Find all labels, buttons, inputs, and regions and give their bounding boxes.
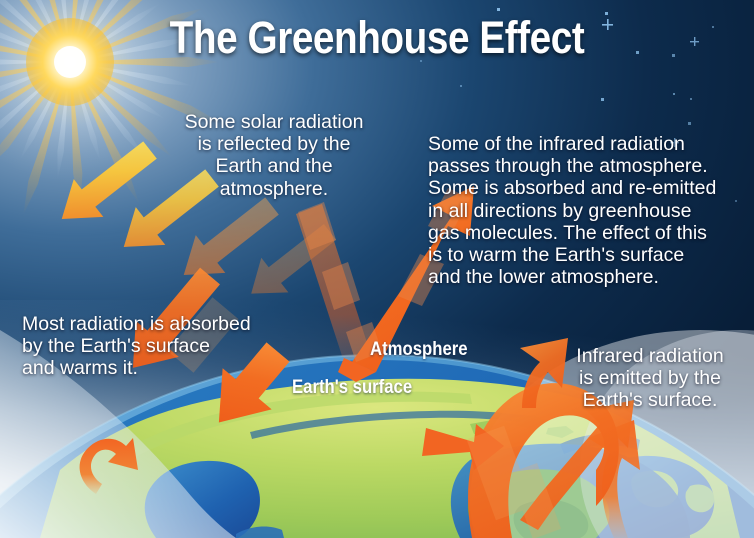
greenhouse-effect-infographic: The Greenhouse Effect Some solar radiati…: [0, 0, 754, 538]
arrows-layer: [0, 0, 754, 538]
infrared-emitted-arrow-left: [80, 438, 138, 494]
reflected-radiation-arrow: [296, 186, 474, 382]
